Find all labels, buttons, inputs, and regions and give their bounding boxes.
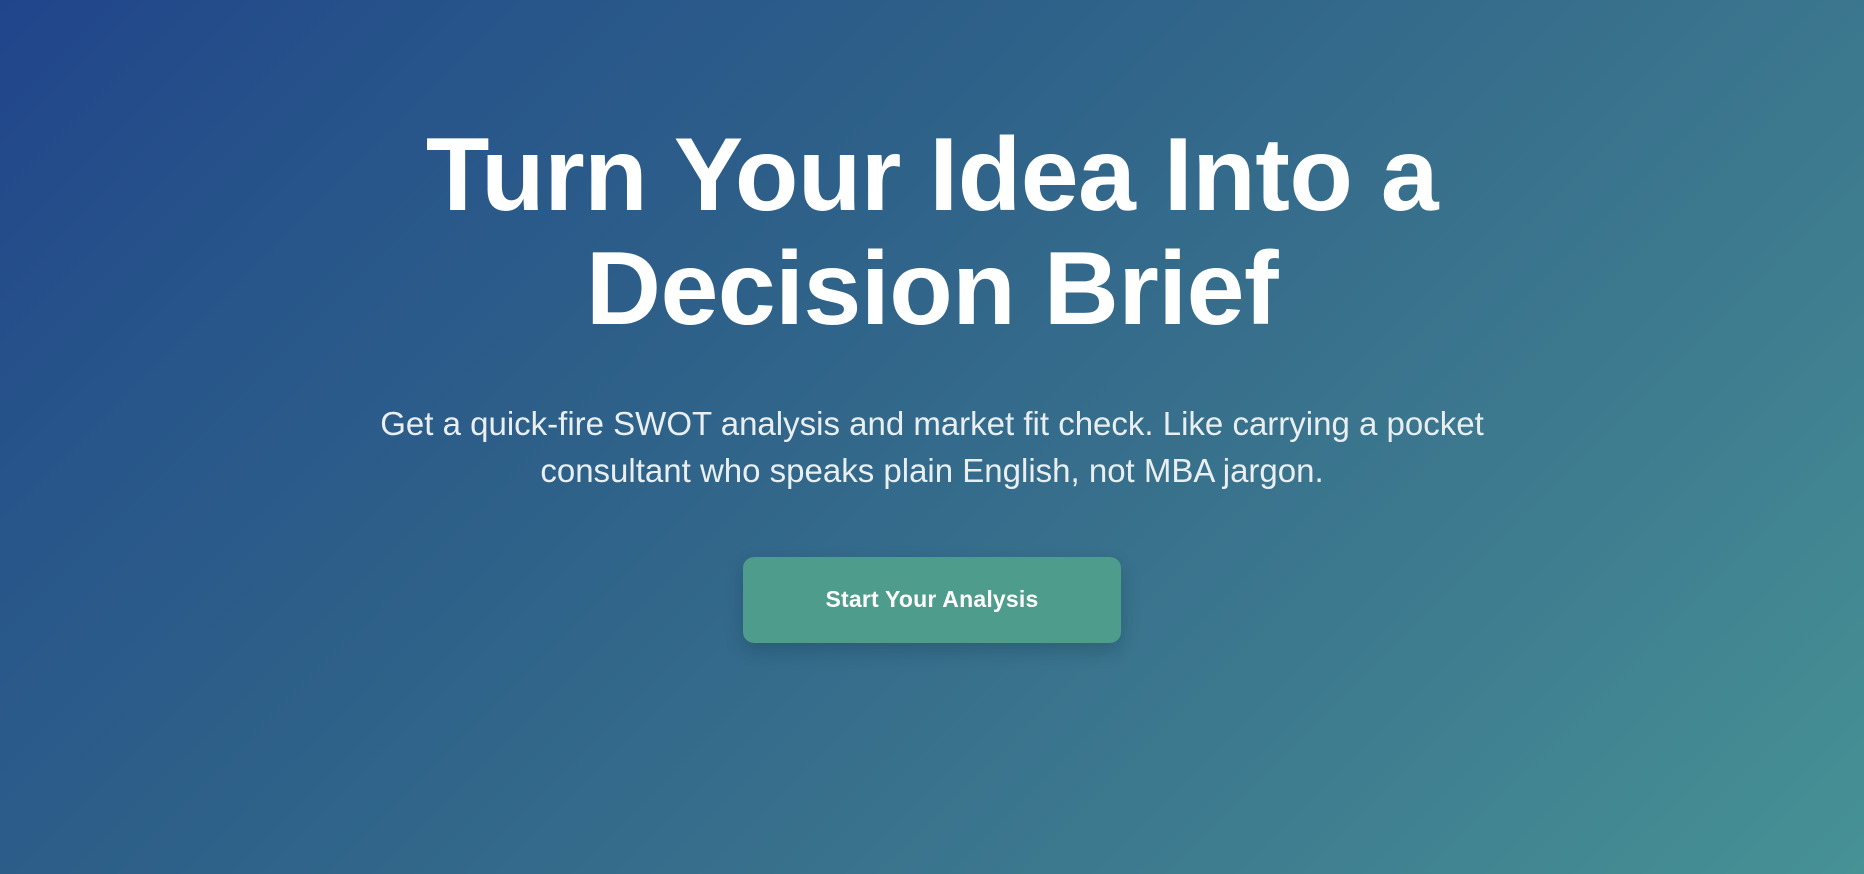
- page-title: Turn Your Idea Into a Decision Brief: [362, 118, 1502, 347]
- hero-section: Turn Your Idea Into a Decision Brief Get…: [0, 0, 1864, 874]
- cta-container: Start Your Analysis: [292, 557, 1572, 643]
- start-analysis-button[interactable]: Start Your Analysis: [743, 557, 1121, 643]
- hero-subtitle: Get a quick-fire SWOT analysis and marke…: [365, 401, 1500, 495]
- hero-content: Turn Your Idea Into a Decision Brief Get…: [292, 118, 1572, 643]
